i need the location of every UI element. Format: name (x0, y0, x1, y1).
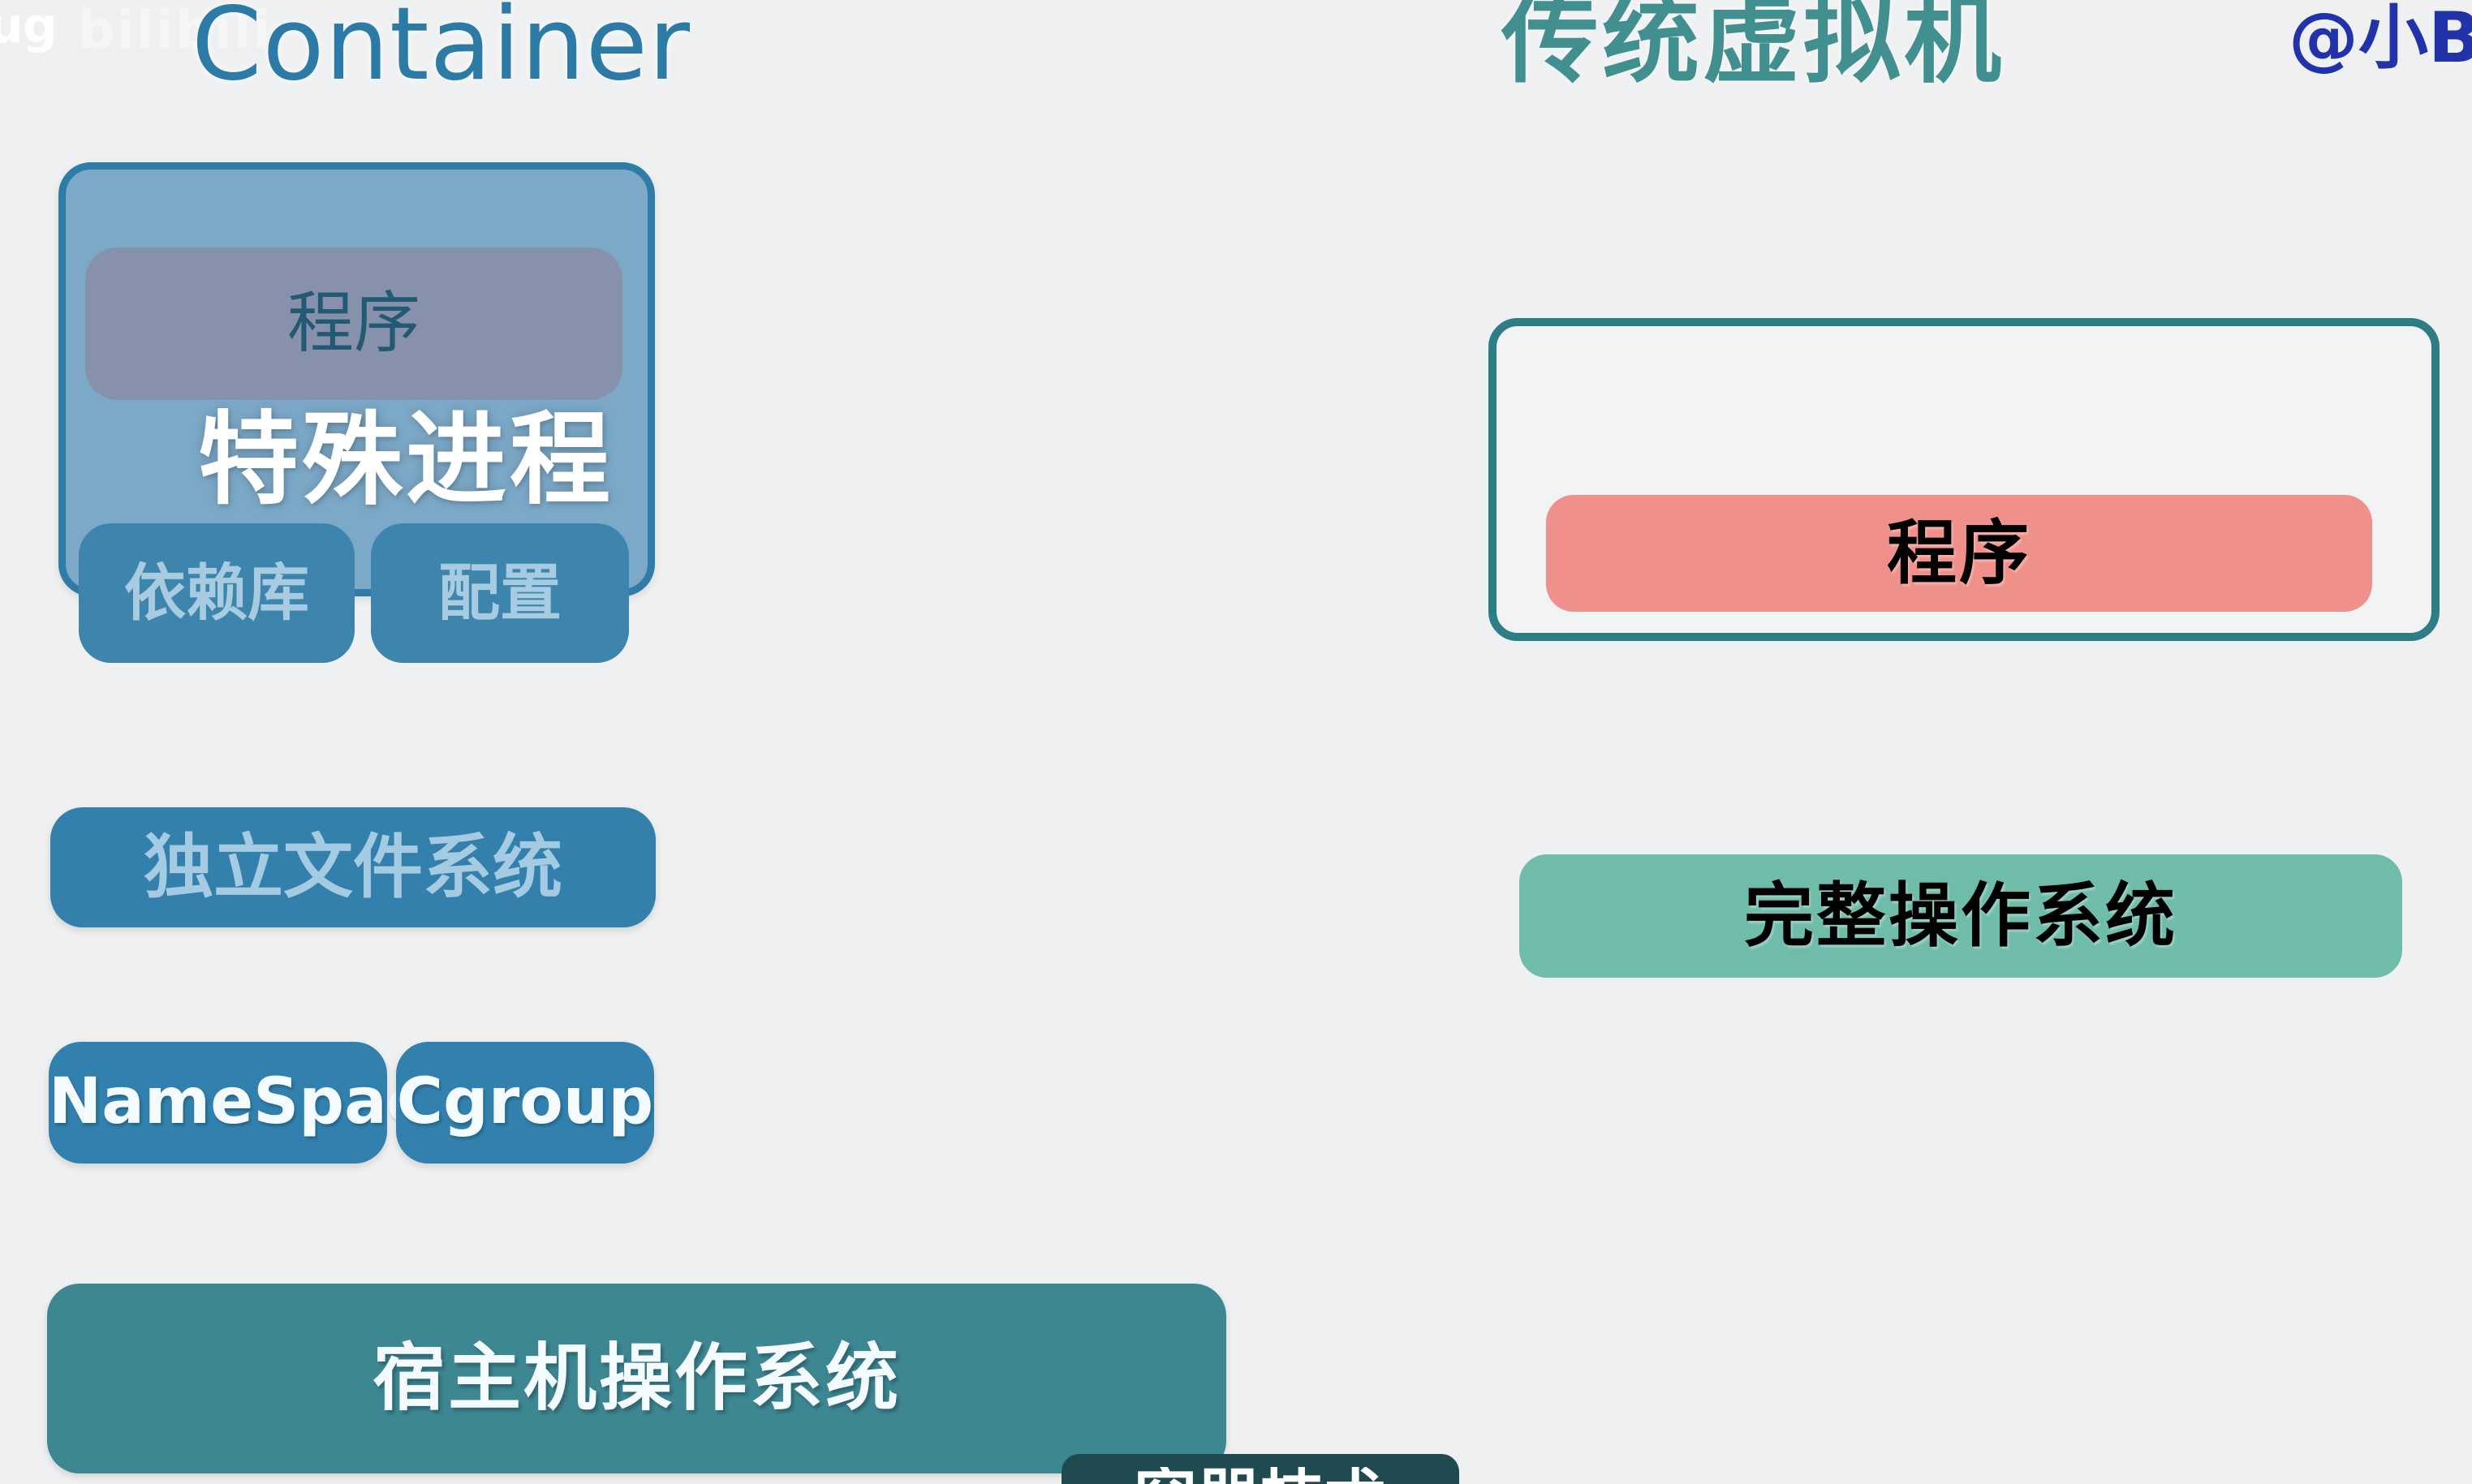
container-filesystem-box: 独立文件系统 (50, 807, 656, 927)
cgroup-box: Cgroup (396, 1042, 654, 1164)
bottom-popup-box: 容器技术 (1062, 1454, 1459, 1484)
corner-watermark-text: ug (0, 2, 57, 50)
container-config-box: 配置 (371, 523, 629, 663)
vm-os-label: 完整操作系统 (1519, 880, 2402, 953)
vm-os-box: 完整操作系统 (1519, 854, 2402, 978)
host-os-box: 宿主机操作系统 (47, 1284, 1226, 1473)
container-dependency-label: 依赖库 (79, 561, 355, 626)
namespace-label: NameSpace (49, 1069, 387, 1136)
container-config-label: 配置 (371, 561, 629, 626)
author-handle: @小B (2289, 0, 2472, 80)
host-os-label: 宿主机操作系统 (47, 1340, 1226, 1417)
namespace-box: NameSpace (49, 1042, 387, 1164)
vm-program-box: 程序 (1546, 495, 2372, 612)
bottom-popup-label: 容器技术 (1062, 1467, 1459, 1484)
diagram-canvas: ug bilibili Container 传统虚拟机 @小B 程序 依赖库 配… (0, 0, 2472, 1484)
vm-column-title: 传统虚拟机 (1501, 0, 2005, 99)
container-filesystem-label: 独立文件系统 (50, 831, 656, 904)
container-dependency-box: 依赖库 (79, 523, 355, 663)
overlay-caption: 特殊进程 (198, 410, 614, 510)
cgroup-label: Cgroup (396, 1069, 654, 1136)
vm-program-label: 程序 (1546, 517, 2372, 590)
container-program-box: 程序 (85, 247, 622, 400)
container-column-title: Container (192, 0, 691, 103)
container-program-label: 程序 (85, 289, 622, 359)
